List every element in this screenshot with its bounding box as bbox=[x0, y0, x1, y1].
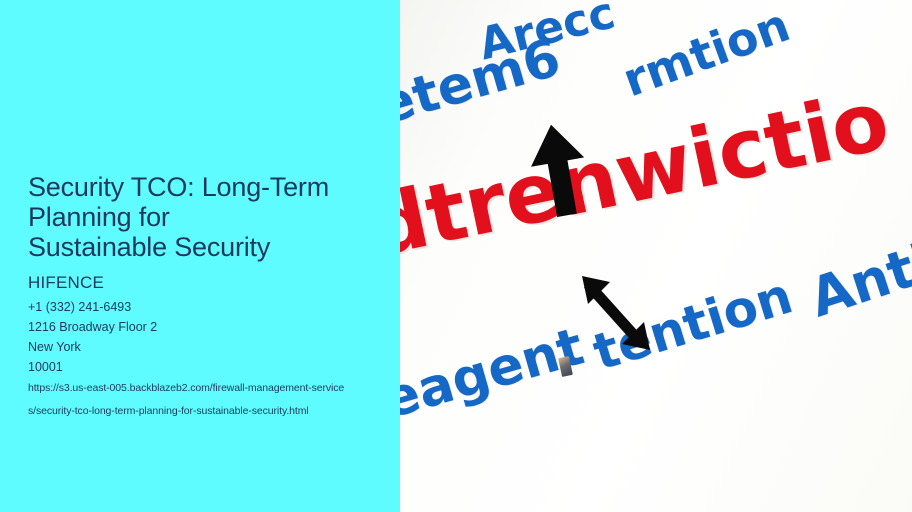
organization-name: HIFENCE bbox=[28, 272, 104, 293]
source-url-line-2: s/security-tco-long-term-planning-for-su… bbox=[28, 400, 388, 423]
contact-city: New York bbox=[28, 337, 388, 357]
contact-block: +1 (332) 241-6493 1216 Broadway Floor 2 … bbox=[28, 297, 388, 377]
right-image-panel: Arecc etem6 rmtion dtrenwictio eagent te… bbox=[400, 0, 912, 512]
screenshot-canvas: Security TCO: Long-Term Planning for Sus… bbox=[0, 0, 912, 512]
double-arrow-diagonal-icon bbox=[578, 272, 656, 354]
page-title-line-3: Sustainable Security bbox=[28, 232, 400, 262]
page-title: Security TCO: Long-Term Planning for Sus… bbox=[28, 172, 400, 262]
contact-phone: +1 (332) 241-6493 bbox=[28, 297, 388, 317]
page-title-line-1: Security TCO: Long-Term bbox=[28, 172, 400, 202]
contact-zip: 10001 bbox=[28, 357, 388, 377]
source-url-line-1: https://s3.us-east-005.backblazeb2.com/f… bbox=[28, 377, 388, 400]
left-info-panel: Security TCO: Long-Term Planning for Sus… bbox=[0, 0, 400, 512]
contact-street: 1216 Broadway Floor 2 bbox=[28, 317, 388, 337]
arrow-up-icon bbox=[528, 122, 590, 218]
page-title-line-2: Planning for bbox=[28, 202, 400, 232]
source-url[interactable]: https://s3.us-east-005.backblazeb2.com/f… bbox=[28, 377, 388, 423]
